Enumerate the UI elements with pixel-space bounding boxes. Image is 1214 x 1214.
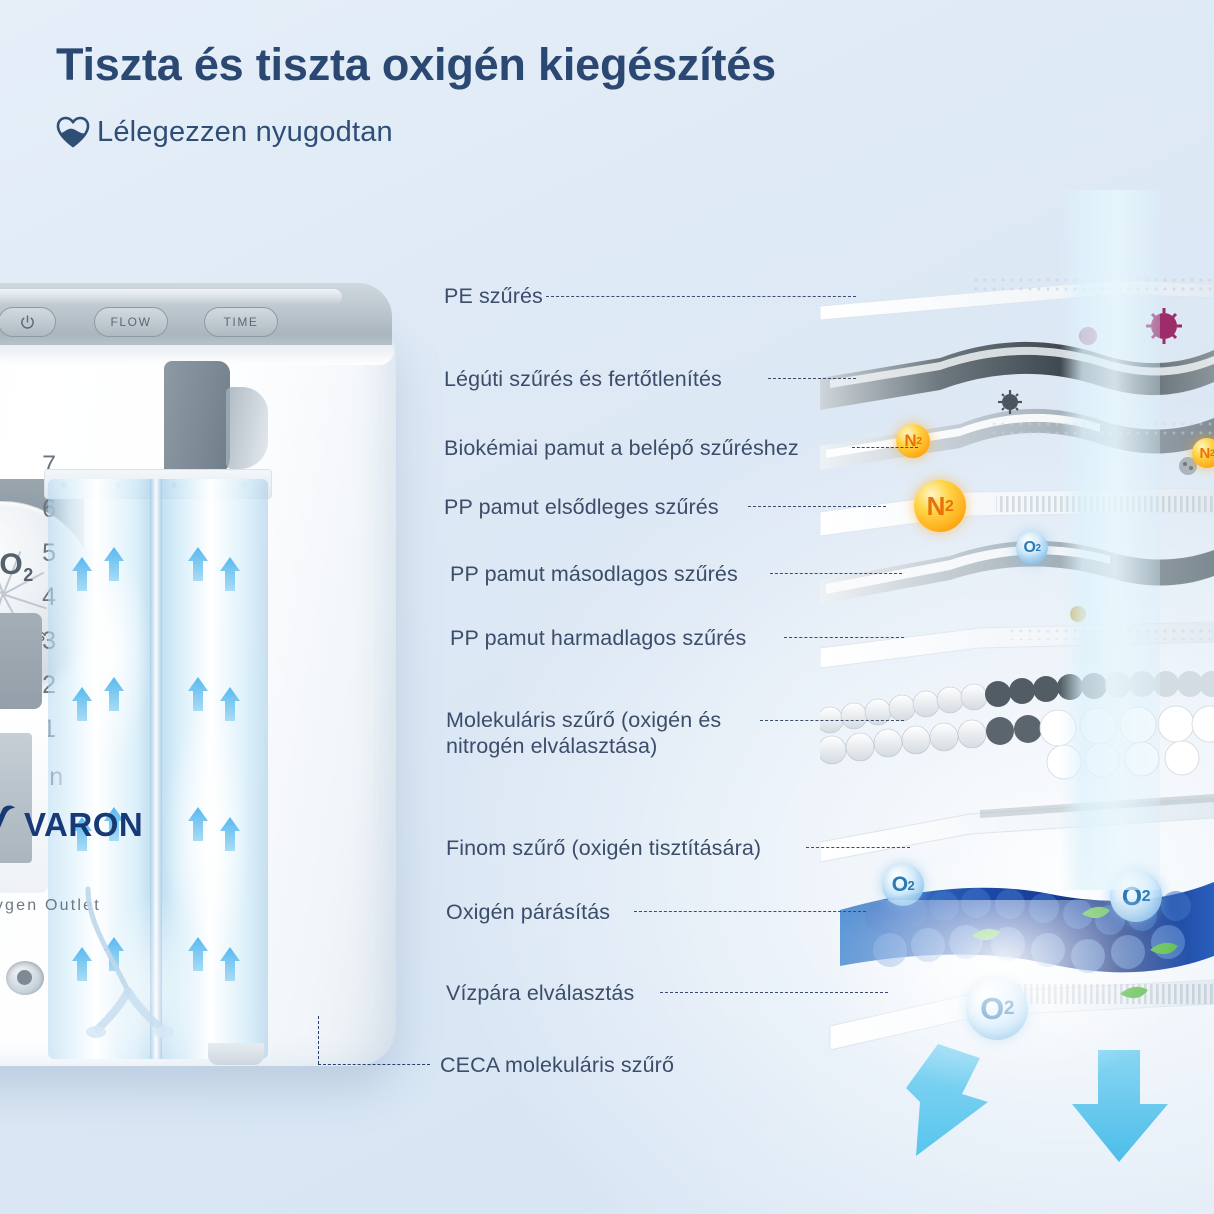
label-vapour-separation: Vízpára elválasztás xyxy=(446,980,634,1008)
label-callouts: PE szűrés Légúti szűrés és fertőtlenítés… xyxy=(0,0,1214,1214)
label-pp-secondary: PP pamut másodlagos szűrés xyxy=(450,561,738,589)
connector-pp-tertiary xyxy=(784,637,904,638)
connector-biochemical xyxy=(852,447,918,448)
connector-pp-primary xyxy=(748,506,886,507)
connector-vapour xyxy=(660,992,888,993)
connector-ceca-horizontal xyxy=(318,1064,430,1065)
connector-humidification xyxy=(634,911,866,912)
label-molecular-sieve-line1: Molekuláris szűrő (oxigén és xyxy=(446,707,721,735)
connector-airway xyxy=(768,378,856,379)
label-fine-filter: Finom szűrő (oxigén tisztítására) xyxy=(446,835,761,863)
connector-fine-filter xyxy=(806,847,910,848)
infographic-canvas: Tiszta és tiszta oxigén kiegészítés Léle… xyxy=(0,0,1214,1214)
connector-pe xyxy=(546,296,856,297)
label-pe-filtration: PE szűrés xyxy=(444,283,543,311)
connector-ceca-vertical xyxy=(318,1016,319,1064)
label-pp-primary: PP pamut elsődleges szűrés xyxy=(444,494,719,522)
connector-molecular xyxy=(760,720,904,721)
connector-pp-secondary xyxy=(770,573,902,574)
label-ceca-sieve: CECA molekuláris szűrő xyxy=(440,1052,674,1080)
label-molecular-sieve-line2: nitrogén elválasztása) xyxy=(446,733,657,761)
label-pp-tertiary: PP pamut harmadlagos szűrés xyxy=(450,625,746,653)
label-airway-disinfection: Légúti szűrés és fertőtlenítés xyxy=(444,366,722,394)
label-oxygen-humidification: Oxigén párásítás xyxy=(446,899,610,927)
label-biochemical-cotton: Biokémiai pamut a belépő szűréshez xyxy=(444,435,799,463)
